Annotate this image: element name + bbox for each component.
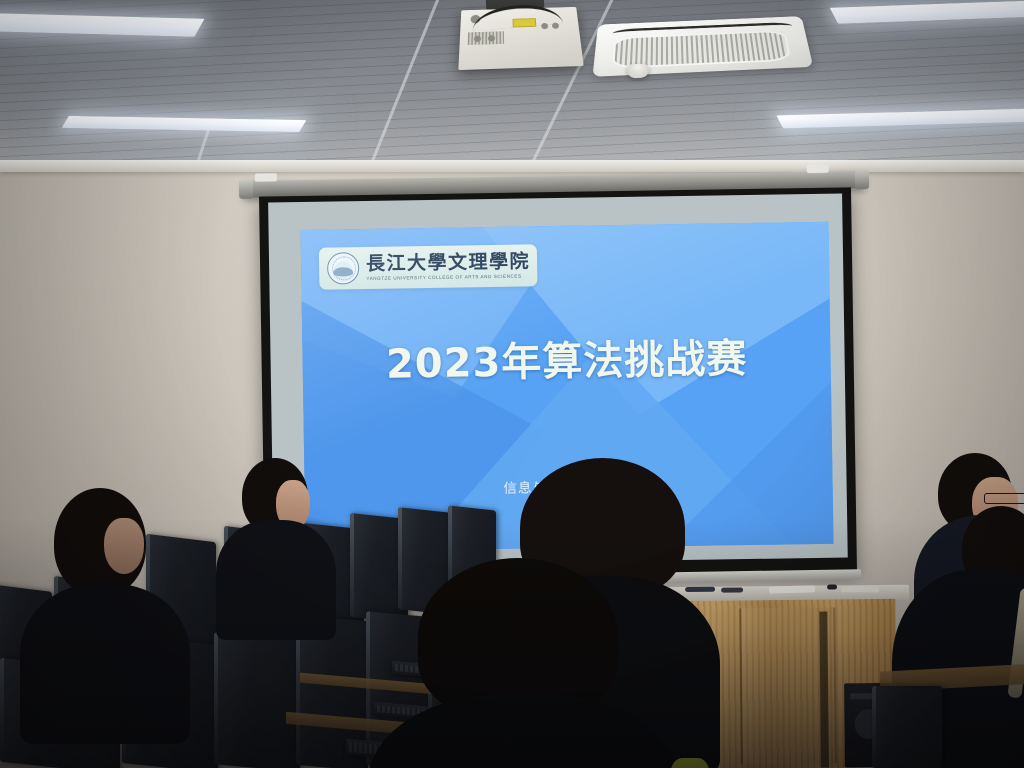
roller-mount-bracket (807, 165, 829, 173)
classroom-photo: 長江大學文理學院 YANGTZE UNIVERSITY COLLEGE OF A… (0, 0, 1024, 768)
optical-drive (850, 693, 890, 699)
pen (721, 587, 743, 592)
pen (685, 587, 715, 592)
podium-side-gap (819, 612, 829, 768)
pen (827, 584, 837, 589)
ceiling (0, 0, 1024, 172)
pc-fan-grille (854, 709, 884, 739)
slide-title: 2023年算法挑战赛 (302, 325, 831, 391)
roller-mount-bracket (255, 173, 277, 181)
paper-sheet (769, 585, 815, 593)
wall-shadow-left (0, 160, 300, 768)
projected-slide: 長江大學文理學院 YANGTZE UNIVERSITY COLLEGE OF A… (301, 222, 834, 552)
university-name-chinese: 長江大學文理學院 (366, 252, 530, 274)
university-logo-banner: 長江大學文理學院 YANGTZE UNIVERSITY COLLEGE OF A… (319, 244, 538, 289)
wall-ceiling-cornice (0, 160, 1024, 172)
desktop-tower-pc[interactable] (844, 683, 903, 768)
pull-down-projection-screen[interactable]: 長江大學文理學院 YANGTZE UNIVERSITY COLLEGE OF A… (259, 187, 857, 580)
wooden-teacher-podium[interactable] (659, 585, 911, 768)
roller-end-cap (239, 179, 253, 199)
university-name-english: YANGTZE UNIVERSITY COLLEGE OF ARTS AND S… (366, 274, 530, 281)
roller-end-cap (855, 169, 869, 189)
air-conditioning-vent-icon (592, 16, 813, 77)
podium-items (659, 583, 909, 600)
university-seal-icon (327, 252, 359, 284)
screen-surface: 長江大學文理學院 YANGTZE UNIVERSITY COLLEGE OF A… (268, 194, 848, 567)
paper-sheet (841, 586, 879, 592)
projector (458, 7, 583, 70)
university-logo-text: 長江大學文理學院 YANGTZE UNIVERSITY COLLEGE OF A… (366, 252, 530, 281)
